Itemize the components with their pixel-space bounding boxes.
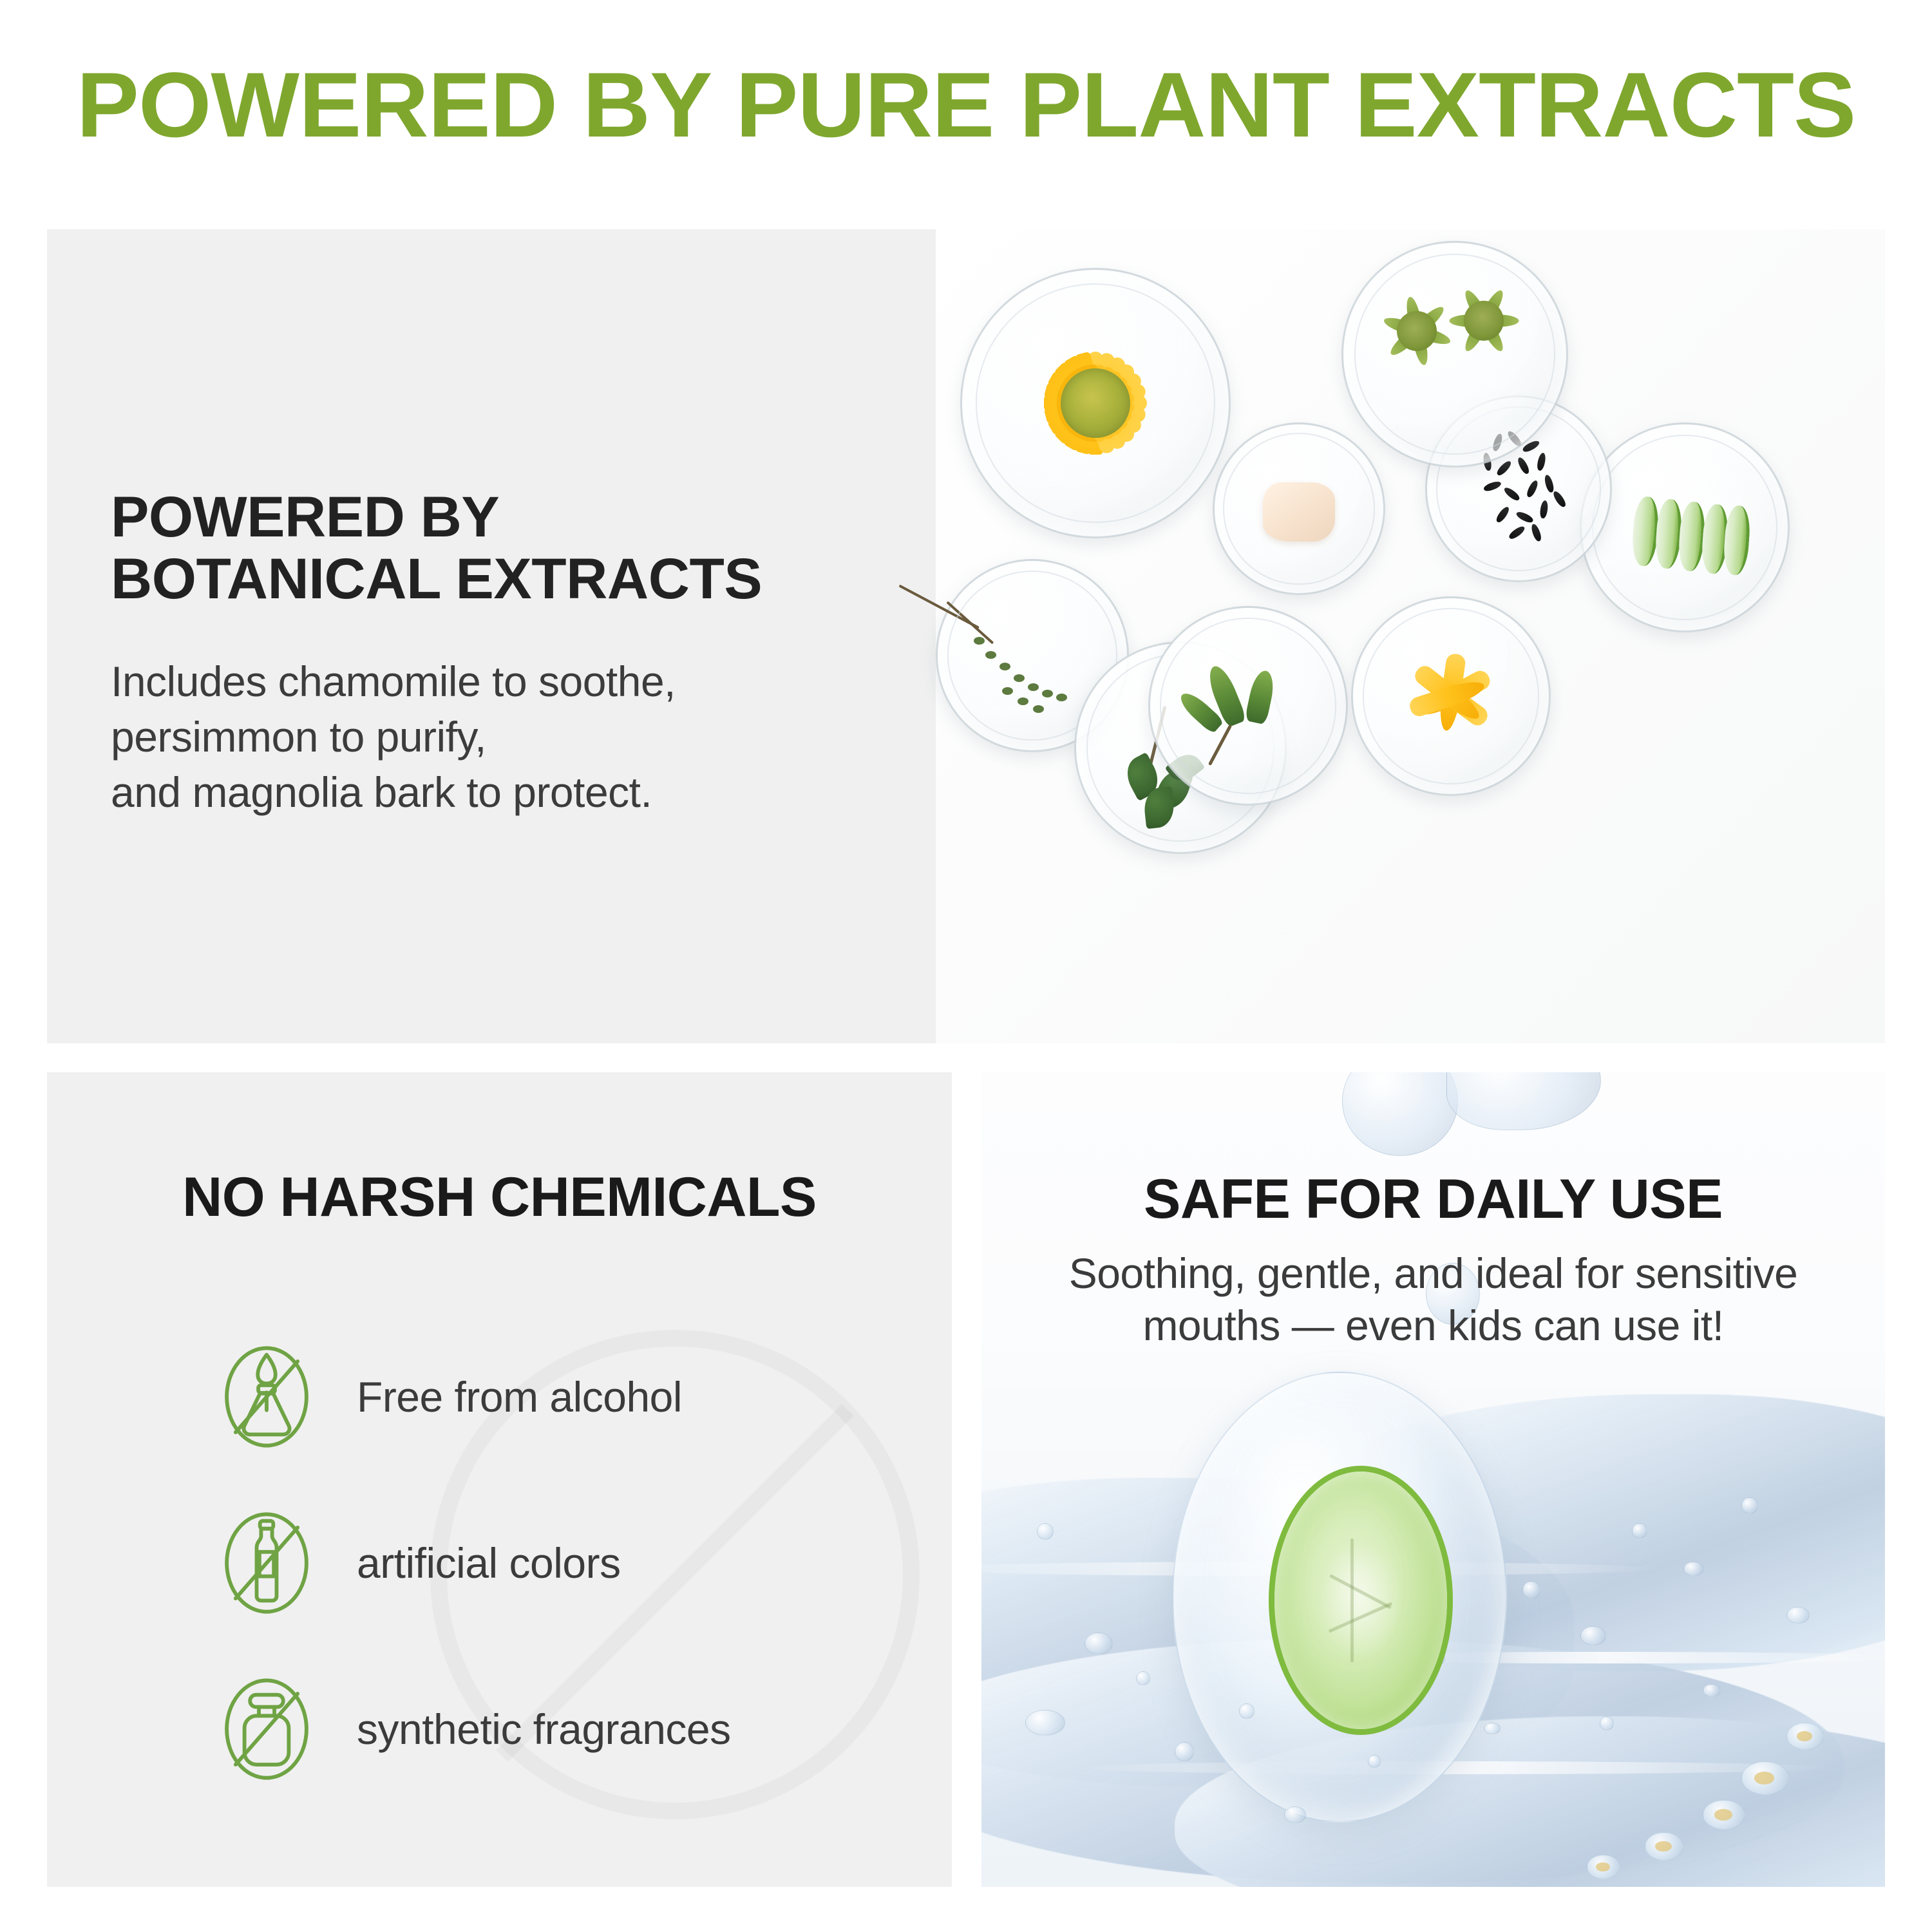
panel-top-body-line3: and magnolia bark to protect. — [111, 765, 676, 820]
no-perfume-bottle-icon — [211, 1674, 322, 1785]
panel-botanical-extracts: POWERED BY BOTANICAL EXTRACTS Includes c… — [47, 229, 1885, 1043]
list-item: synthetic fragrances — [211, 1646, 920, 1812]
petri-dish-yellow-flower — [1351, 596, 1551, 796]
panel-bottom-left-heading: NO HARSH CHEMICALS — [47, 1166, 952, 1229]
list-item: artificial colors — [211, 1480, 920, 1646]
panel-top-body-line1: Includes chamomile to soothe, — [111, 654, 676, 710]
panel-bottom-right-body-line1: Soothing, gentle, and ideal for sensitiv… — [981, 1247, 1885, 1300]
botanical-petri-dishes-photo — [936, 229, 1885, 1043]
list-item-label: artificial colors — [357, 1539, 621, 1587]
petri-dish-green-bud — [1148, 606, 1348, 806]
panel-safe-for-daily-use: SAFE FOR DAILY USE Soothing, gentle, and… — [981, 1072, 1885, 1887]
no-bottle-icon — [211, 1508, 322, 1618]
infographic-canvas: POWERED BY PURE PLANT EXTRACTS POWERED B… — [0, 0, 1932, 1932]
petri-dish-cucumber-slices — [1580, 422, 1790, 632]
panel-top-body: Includes chamomile to soothe, persimmon … — [111, 654, 676, 820]
no-harsh-chemicals-list: Free from alcohol artificial — [211, 1314, 920, 1812]
list-item-label: synthetic fragrances — [357, 1705, 731, 1754]
petri-dish-green-buds — [1341, 241, 1568, 468]
page-title: POWERED BY PURE PLANT EXTRACTS — [0, 59, 1932, 151]
cucumber-slice — [1274, 1472, 1447, 1729]
no-alcohol-burner-icon — [211, 1341, 322, 1452]
sunflower-bloom — [989, 297, 1202, 509]
panel-top-body-line2: persimmon to purify, — [111, 710, 676, 765]
panel-bottom-right-heading: SAFE FOR DAILY USE — [981, 1168, 1885, 1231]
panel-top-heading: POWERED BY BOTANICAL EXTRACTS — [111, 486, 762, 609]
petri-dish-sunflower — [960, 268, 1231, 538]
petri-dish-cream — [1213, 422, 1385, 595]
list-item: Free from alcohol — [211, 1314, 920, 1480]
panel-top-heading-line2: BOTANICAL EXTRACTS — [111, 547, 762, 609]
panel-bottom-right-body: Soothing, gentle, and ideal for sensitiv… — [981, 1247, 1885, 1351]
list-item-label: Free from alcohol — [357, 1372, 682, 1421]
panel-no-harsh-chemicals: NO HARSH CHEMICALS — [47, 1072, 952, 1887]
panel-bottom-right-body-line2: mouths — even kids can use it! — [981, 1300, 1885, 1352]
panel-top-heading-line1: POWERED BY — [111, 486, 762, 547]
